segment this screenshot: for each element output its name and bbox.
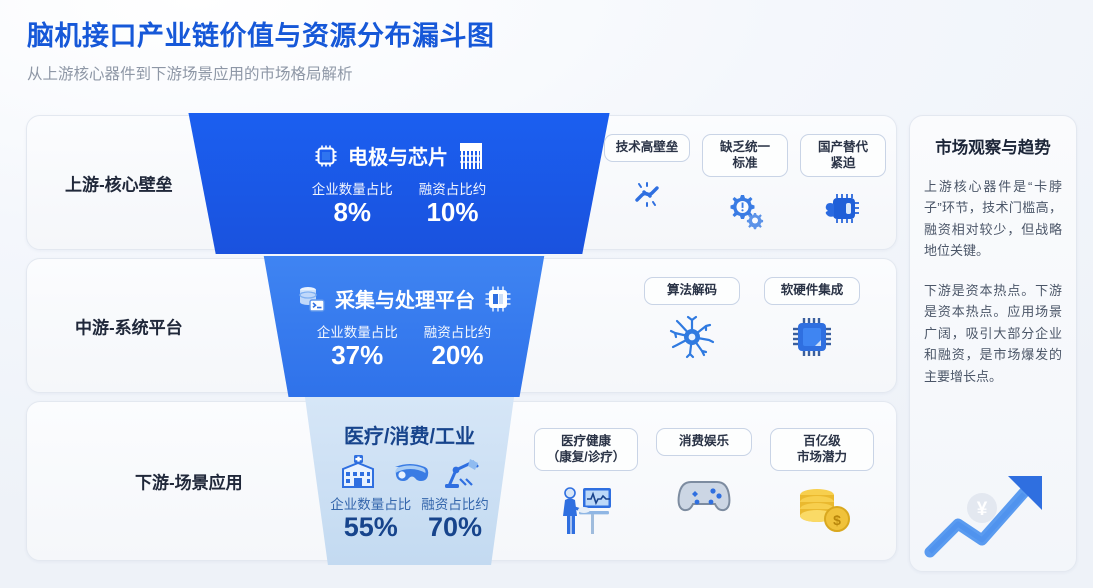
- market-insights-panel: 市场观察与趋势 上游核心器件是“卡脖子”环节，技术门槛高，融资相对较少，但战略地…: [909, 115, 1077, 572]
- tag-label[interactable]: 百亿级 市场潜力: [770, 428, 874, 471]
- metric-value: 70%: [421, 513, 489, 542]
- tag-label[interactable]: 医疗健康 （康复/诊疗）: [534, 428, 638, 471]
- funnel-title-row-upstream: 电极与芯片: [313, 141, 485, 171]
- tag-group-tech-barrier[interactable]: 技术高壁垒: [604, 134, 690, 217]
- metric-value: 55%: [330, 513, 411, 542]
- broken-chain-icon: [627, 171, 667, 217]
- doctor-monitor-icon: [557, 480, 615, 540]
- metric-value: 37%: [317, 341, 398, 369]
- tag-label[interactable]: 消费娱乐: [656, 428, 752, 456]
- metric-label: 融资占比约: [421, 493, 489, 513]
- metric-label: 融资占比约: [424, 321, 492, 341]
- sidebar-paragraph-downstream: 下游是资本热点。下游是资本热点。应用场景广阔，吸引大部分企业和融资，是市场爆发的…: [924, 280, 1062, 387]
- metric-company-share-upstream: 企业数量占比 8%: [312, 178, 393, 226]
- tag-group-medical-health[interactable]: 医疗健康 （康复/诊疗）: [534, 428, 638, 540]
- robot-arm-icon: [443, 453, 481, 489]
- stage-label-upstream: 上游-核心壁垒: [65, 170, 173, 195]
- metric-label: 企业数量占比: [330, 493, 411, 513]
- metric-company-share-downstream: 企业数量占比 55%: [330, 493, 411, 542]
- growth-arrow-yen-icon: ¥: [924, 460, 1064, 565]
- funnel-shape-midstream[interactable]: 采集与处理平台: [239, 256, 569, 397]
- funnel-metrics-upstream: 企业数量占比 8% 融资占比约 10%: [312, 178, 487, 226]
- metric-funding-share-upstream: 融资占比约 10%: [419, 178, 487, 226]
- svg-text:¥: ¥: [977, 499, 988, 520]
- cpu-icon: [789, 314, 835, 360]
- funnel-shape-downstream[interactable]: 医疗/消费/工业: [282, 397, 537, 565]
- funnel-title-upstream: 电极与芯片: [348, 141, 448, 170]
- database-terminal-icon: [296, 284, 326, 314]
- stage-label-midstream: 中游-系统平台: [75, 313, 183, 338]
- funnel-icon-row-downstream: [339, 453, 481, 489]
- tag-label[interactable]: 技术高壁垒: [604, 134, 690, 162]
- funnel-metrics-downstream: 企业数量占比 55% 融资占比约 70%: [330, 493, 489, 542]
- svg-text:$: $: [833, 512, 841, 528]
- tag-label[interactable]: 国产替代 紧迫: [800, 134, 886, 177]
- page-title: 脑机接口产业链价值与资源分布漏斗图: [27, 14, 495, 53]
- tag-group-domestic-substitution[interactable]: 国产替代 紧迫: [800, 134, 886, 232]
- tag-label[interactable]: 算法解码: [644, 277, 740, 305]
- metric-value: 20%: [424, 341, 492, 369]
- sidebar-title: 市场观察与趋势: [924, 134, 1062, 158]
- gamepad-icon: [675, 465, 733, 525]
- tags-zone-downstream: 医疗健康 （康复/诊疗）: [534, 428, 874, 550]
- metric-value: 8%: [312, 198, 393, 226]
- funnel-row-upstream[interactable]: 上游-核心壁垒 电极与芯片: [26, 115, 897, 250]
- funnel-rows-container: 上游-核心壁垒 电极与芯片: [26, 115, 897, 561]
- metric-value: 10%: [419, 198, 487, 226]
- metric-funding-share-downstream: 融资占比约 70%: [421, 493, 489, 542]
- stage-label-downstream: 下游-场景应用: [135, 469, 243, 494]
- funnel-row-downstream[interactable]: 下游-场景应用 医疗/消费/工业: [26, 401, 897, 561]
- tags-zone-midstream: 算法解码: [644, 277, 860, 382]
- metric-label: 企业数量占比: [317, 321, 398, 341]
- gear-warning-icon: [724, 186, 766, 232]
- sidebar-paragraph-upstream: 上游核心器件是“卡脖子”环节，技术门槛高，融资相对较少，但战略地位关键。: [924, 176, 1062, 262]
- tag-label[interactable]: 软硬件集成: [764, 277, 860, 305]
- page-subtitle: 从上游核心器件到下游场景应用的市场格局解析: [27, 62, 495, 84]
- funnel-metrics-midstream: 企业数量占比 37% 融资占比约 20%: [317, 321, 492, 369]
- tag-group-hw-sw-integration[interactable]: 软硬件集成: [764, 277, 860, 360]
- funnel-row-midstream[interactable]: 中游-系统平台 采集与处理平台: [26, 258, 897, 393]
- metric-label: 融资占比约: [419, 178, 487, 198]
- metric-funding-share-midstream: 融资占比约 20%: [424, 321, 492, 369]
- tag-group-no-standard[interactable]: 缺乏统一 标准: [702, 134, 788, 232]
- funnel-title-midstream: 采集与处理平台: [335, 284, 475, 313]
- chip-pins-icon: [821, 186, 865, 232]
- funnel-title-row-downstream: 医疗/消费/工业: [339, 420, 481, 489]
- neuron-icon: [668, 314, 716, 360]
- hospital-icon: [339, 453, 377, 489]
- gold-coins-icon: $: [793, 480, 851, 540]
- electrode-array-icon: [457, 141, 485, 171]
- metric-label: 企业数量占比: [312, 178, 393, 198]
- funnel-shape-upstream[interactable]: 电极与芯片: [164, 113, 634, 254]
- funnel-title-row-midstream: 采集与处理平台: [296, 284, 512, 314]
- vr-headset-icon: [390, 455, 430, 489]
- tags-zone-upstream: 技术高壁垒 缺乏统一 标准: [604, 134, 886, 239]
- funnel-title-downstream: 医疗/消费/工业: [344, 420, 475, 449]
- microchip-icon: [313, 143, 339, 169]
- processor-icon: [484, 285, 512, 313]
- metric-company-share-midstream: 企业数量占比 37%: [317, 321, 398, 369]
- tag-group-consumer-entertainment[interactable]: 消费娱乐: [656, 428, 752, 525]
- page-header: 脑机接口产业链价值与资源分布漏斗图 从上游核心器件到下游场景应用的市场格局解析: [27, 14, 495, 84]
- tag-group-market-potential[interactable]: 百亿级 市场潜力 $: [770, 428, 874, 540]
- bottom-cutoff-text: [27, 574, 327, 586]
- tag-label[interactable]: 缺乏统一 标准: [702, 134, 788, 177]
- tag-group-algorithm-decoding[interactable]: 算法解码: [644, 277, 740, 360]
